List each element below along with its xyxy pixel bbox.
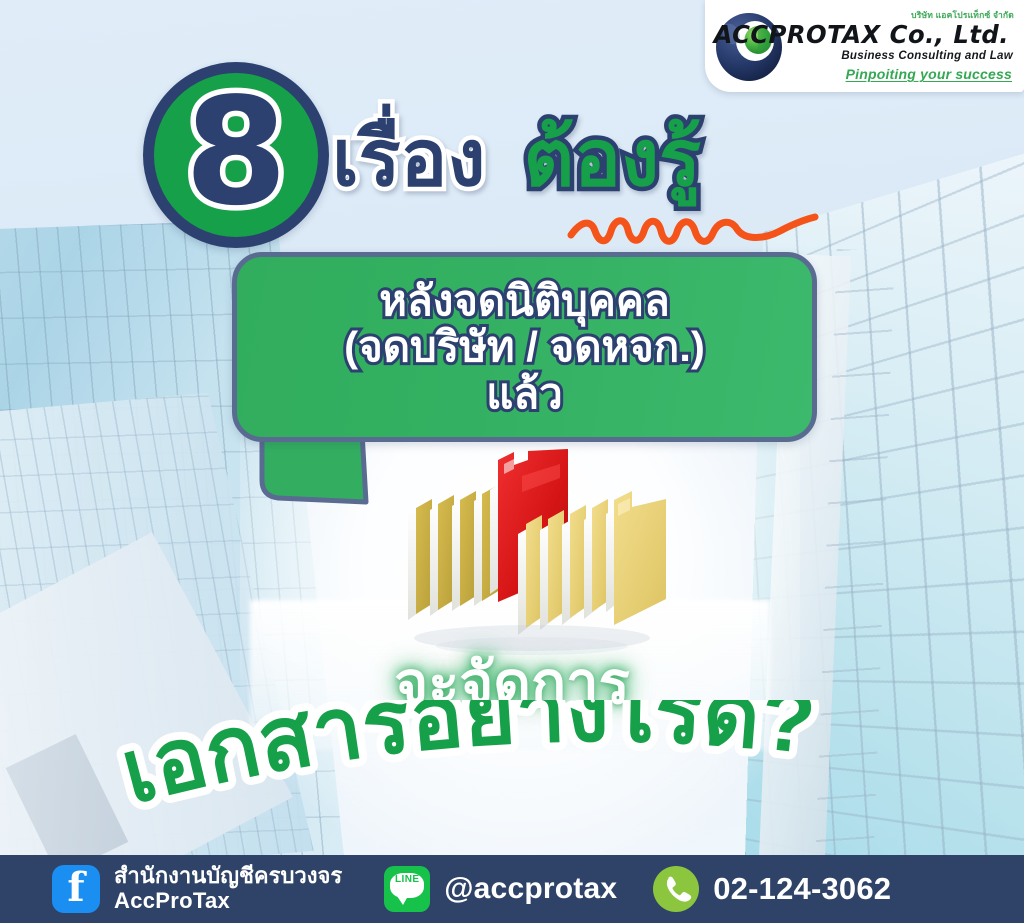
- facebook-page-name: สำนักงานบัญชีครบวงจร AccProTax: [114, 864, 342, 913]
- phone-number-text: 02-124-3062: [713, 871, 891, 907]
- svg-text:เอกสารอย่างไรดี?: เอกสารอย่างไรดี?: [111, 700, 820, 822]
- line-id-text: @accprotax: [444, 872, 617, 906]
- badge-number-text: 8: [185, 78, 288, 226]
- logo-text-group: บริษัท แอคโปรแท็กซ์ จำกัด ACCPROTAX Co.,…: [789, 6, 1016, 86]
- bubble-line-1: หลังจดนิติบุคคล: [379, 278, 669, 323]
- facebook-icon[interactable]: [52, 865, 100, 913]
- orange-squiggle-underline-icon: [565, 205, 820, 249]
- facebook-page-line-2: AccProTax: [114, 889, 342, 914]
- speech-bubble: หลังจดนิติบุคคล (จดบริษัท / จดหจก.) แล้ว: [232, 252, 817, 442]
- logo-subtitle: Business Consulting and Law: [841, 50, 1013, 62]
- line-icon-label: LINE: [384, 874, 430, 885]
- logo-company-name: ACCPROTAX Co., Ltd.: [714, 20, 1009, 49]
- lower-headline-green: เอกสารอย่างไรดี?: [96, 700, 936, 840]
- line-app-icon[interactable]: LINE: [384, 866, 430, 912]
- logo-slogan: Pinpoiting your success: [846, 66, 1012, 82]
- file-folders-illustration: [372, 442, 692, 672]
- phone-icon[interactable]: [653, 866, 699, 912]
- bubble-line-2: (จดบริษัท / จดหจก.): [344, 324, 705, 369]
- facebook-page-line-1: สำนักงานบัญชีครบวงจร: [114, 863, 342, 888]
- company-logo-plate: บริษัท แอคโปรแท็กซ์ จำกัด ACCPROTAX Co.,…: [705, 0, 1024, 92]
- bubble-line-3: แล้ว: [486, 371, 562, 416]
- headline: เรื่อง ต้องรู้: [332, 98, 852, 218]
- contact-footer-bar: สำนักงานบัญชีครบวงจร AccProTax LINE @acc…: [0, 855, 1024, 923]
- number-badge: 8: [143, 62, 329, 248]
- poster-canvas: บริษัท แอคโปรแท็กซ์ จำกัด ACCPROTAX Co.,…: [0, 0, 1024, 923]
- headline-word-primary: เรื่อง: [332, 119, 486, 197]
- speech-bubble-tail: [258, 432, 378, 510]
- headline-word-accent: ต้องรู้: [524, 119, 701, 197]
- lower-headline-green-textpath: เอกสารอย่างไรดี?: [111, 700, 820, 822]
